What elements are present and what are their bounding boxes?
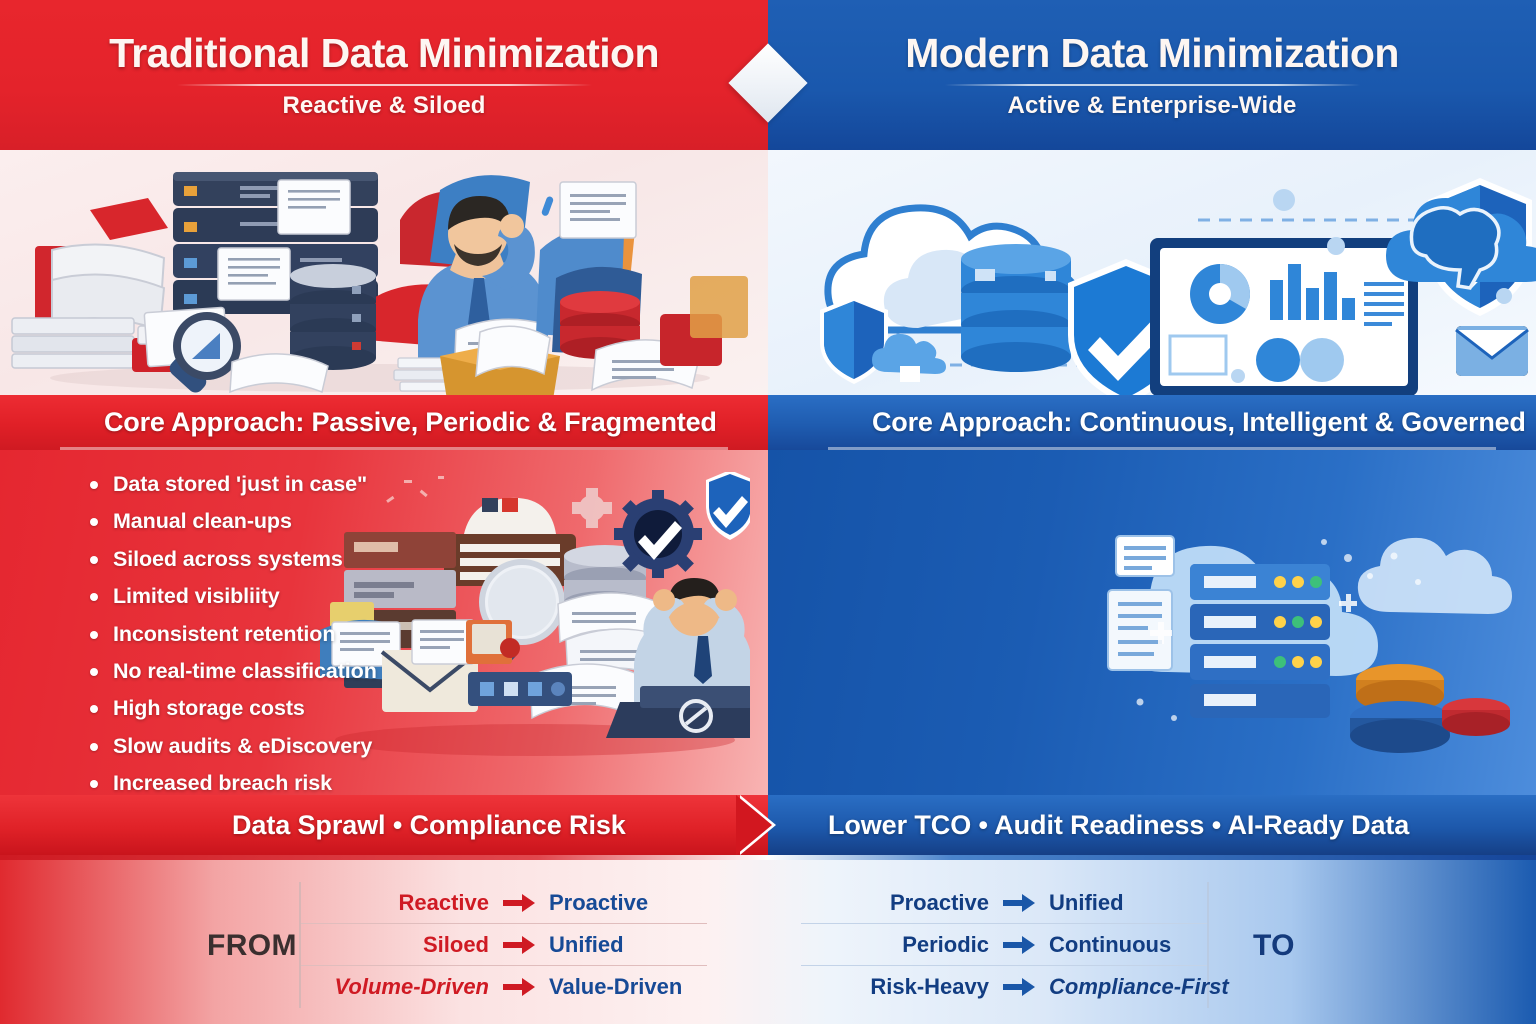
to-transition-table: Proactive Unified Periodic Continuous Ri…	[801, 882, 1209, 1008]
modern-subtitle: Active & Enterprise-Wide	[1008, 92, 1297, 120]
traditional-bullet-list: Data stored 'just in case" Manual clean-…	[88, 472, 377, 795]
traditional-top-illustration	[0, 150, 768, 395]
modern-header: Modern Data Minimization Active & Enterp…	[768, 0, 1536, 150]
analytics-monitor	[1150, 238, 1418, 395]
list-item: Manual clean-ups	[88, 509, 377, 534]
arrow-right-icon	[1001, 894, 1037, 912]
list-item: Increased breach risk	[88, 771, 377, 795]
from-to-transition-strip: FROM TO Reactive Proactive Siloed Unifie…	[0, 855, 1536, 1024]
list-item: Slow audits & eDiscovery	[88, 734, 377, 759]
modern-top-illustration	[768, 150, 1536, 395]
arrow-right-icon	[501, 894, 537, 912]
title-rule	[945, 84, 1360, 86]
to-value: Unified	[1037, 890, 1207, 916]
to-value: Compliance-First	[1037, 974, 1207, 1000]
modern-result-text: Lower TCO • Audit Readiness • AI-Ready D…	[828, 810, 1409, 841]
table-row: Siloed Unified	[301, 924, 707, 966]
from-value: Siloed	[301, 932, 501, 958]
to-value: Value-Driven	[537, 974, 707, 1000]
email-icon	[1456, 326, 1528, 376]
from-value: Periodic	[801, 932, 1001, 958]
to-label: TO	[1253, 929, 1295, 963]
gear-check-icon	[614, 490, 702, 578]
traditional-body: Data stored 'just in case" Manual clean-…	[0, 450, 768, 795]
cluttered-paperwork-servers-illustration	[0, 150, 768, 395]
list-item: Siloed across systems	[88, 547, 377, 572]
infographic-poster: Traditional Data Minimization Reactive &…	[0, 0, 1536, 1024]
arrow-right-icon	[501, 978, 537, 996]
cloud-ai-governance-illustration	[768, 150, 1536, 395]
modern-title: Modern Data Minimization	[905, 30, 1399, 77]
to-value: Continuous	[1037, 932, 1207, 958]
database-cylinder	[961, 244, 1071, 372]
table-row: Risk-Heavy Compliance-First	[801, 966, 1207, 1008]
banner-chevron-icon	[736, 795, 772, 855]
arrow-right-icon	[1001, 978, 1037, 996]
legacy-storage-overload-illustration	[320, 472, 750, 772]
from-value: Reactive	[301, 890, 501, 916]
strip-top-edge	[0, 855, 1536, 860]
arrow-right-icon	[1001, 936, 1037, 954]
shield-check-icon	[706, 472, 750, 540]
from-label: FROM	[207, 929, 297, 963]
traditional-result-text: Data Sprawl • Compliance Risk	[232, 810, 626, 841]
traditional-core-approach-bar: Core Approach: Passive, Periodic & Fragm…	[0, 395, 768, 450]
table-row: Volume-Driven Value-Driven	[301, 966, 707, 1008]
table-row: Periodic Continuous	[801, 924, 1207, 966]
table-row: Proactive Unified	[801, 882, 1207, 924]
traditional-title: Traditional Data Minimization	[109, 30, 659, 77]
from-value: Risk-Heavy	[801, 974, 1001, 1000]
modern-result-banner: Lower TCO • Audit Readiness • AI-Ready D…	[768, 795, 1536, 855]
arrow-right-icon	[501, 936, 537, 954]
to-value: Unified	[537, 932, 707, 958]
traditional-result-banner: Data Sprawl • Compliance Risk	[0, 795, 768, 855]
from-transition-table: Reactive Proactive Siloed Unified Volume…	[299, 882, 707, 1008]
list-item: No real-time classification	[88, 659, 377, 684]
traditional-core-approach-text: Core Approach: Passive, Periodic & Fragm…	[104, 407, 717, 438]
list-item: Inconsistent retention	[88, 622, 377, 647]
modern-core-approach-bar: Core Approach: Continuous, Intelligent &…	[768, 395, 1536, 450]
modern-core-approach-text: Core Approach: Continuous, Intelligent &…	[872, 407, 1526, 438]
traditional-header: Traditional Data Minimization Reactive &…	[0, 0, 768, 150]
modern-cloud-storage-tiers-illustration	[1098, 502, 1518, 762]
traditional-subtitle: Reactive & Siloed	[282, 92, 485, 120]
table-row: Reactive Proactive	[301, 882, 707, 924]
to-value: Proactive	[537, 890, 707, 916]
shield-icon	[820, 296, 888, 384]
list-item: Limited visibliity	[88, 584, 377, 609]
from-value: Volume-Driven	[301, 974, 501, 1000]
list-item: High storage costs	[88, 696, 377, 721]
from-value: Proactive	[801, 890, 1001, 916]
modern-body: Collect only what's needed Real-time AI …	[768, 450, 1536, 795]
title-rule	[177, 84, 592, 86]
list-item: Data stored 'just in case"	[88, 472, 377, 497]
